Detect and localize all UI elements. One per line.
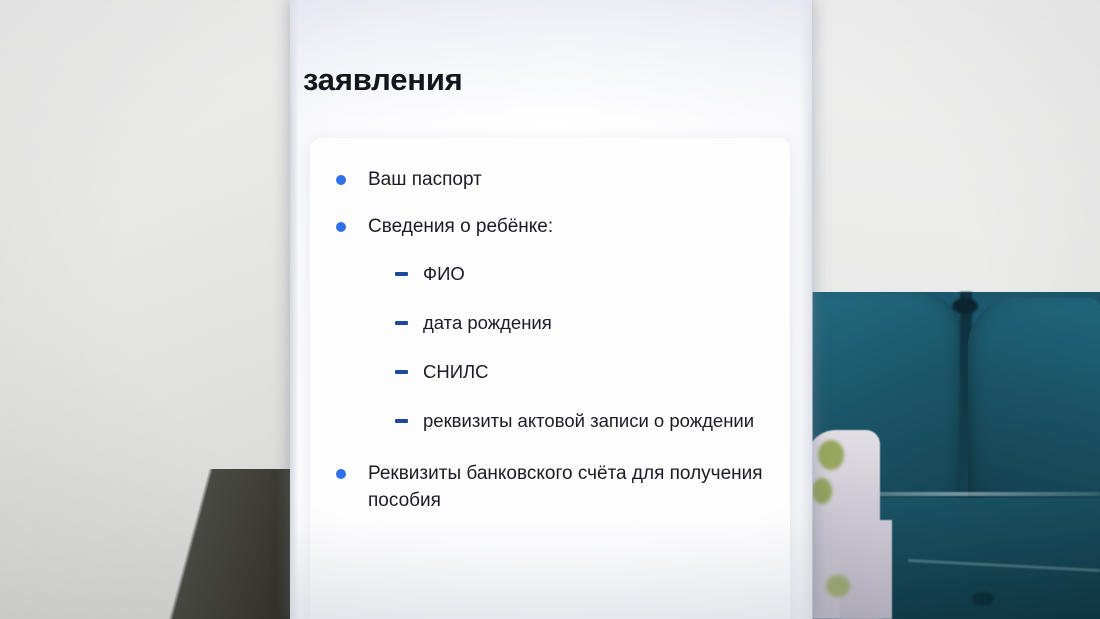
child-details-sublist: ФИО дата рождения СНИЛС реквизиты актово… [368,260,766,434]
sub-list-item-label: реквизиты актовой записи о рождении [423,410,754,431]
sub-list-item: дата рождения [395,309,766,336]
bullet-dash-icon [395,321,408,325]
bullet-dot-icon [336,175,346,185]
sofa-cushion-right [968,298,1100,502]
sub-list-item: реквизиты актовой записи о рождении [395,407,766,434]
bullet-dash-icon [395,272,408,276]
slide-content-card: Ваш паспорт Сведения о ребёнке: ФИО дата… [310,138,790,619]
bullet-dash-icon [395,370,408,374]
requirements-list: Ваш паспорт Сведения о ребёнке: ФИО дата… [336,166,766,534]
screen-edge-left [290,0,299,619]
sub-list-item: ФИО [395,260,766,287]
bullet-dot-icon [336,222,346,232]
list-item: Реквизиты банковского счёта для получени… [336,460,766,514]
slide-title: заявления [303,64,783,95]
sub-list-item-label: ФИО [423,263,465,284]
sofa-knot [952,298,978,314]
sub-list-item-label: СНИЛС [423,361,489,382]
sofa-tuft [972,592,994,606]
bullet-dot-icon [336,469,346,479]
sub-list-item-label: дата рождения [423,312,552,333]
bullet-dash-icon [395,419,408,423]
person-clothing-lower [840,520,892,619]
olive-accent-lower [826,575,850,597]
list-item: Сведения о ребёнке: ФИО дата рождения СН… [336,213,766,434]
olive-accent-upper [818,440,844,470]
screenshot-root: заявления Ваш паспорт Сведения о ребёнке… [0,0,1100,619]
list-item: Ваш паспорт [336,166,766,193]
list-item-label: Сведения о ребёнке: [368,216,553,237]
sub-list-item: СНИЛС [395,358,766,385]
screen-edge-right [800,0,813,619]
list-item-label: Ваш паспорт [368,169,482,190]
list-item-label: Реквизиты банковского счёта для получени… [368,463,763,511]
olive-accent-middle [812,478,832,504]
